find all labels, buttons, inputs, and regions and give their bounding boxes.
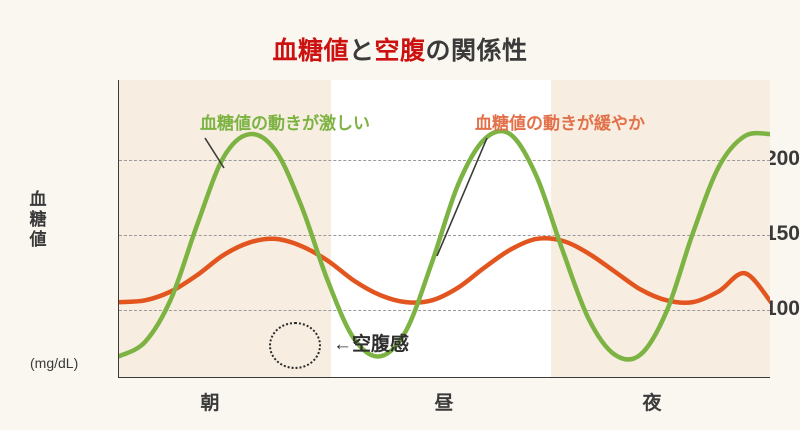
title-part-3: 空腹: [375, 37, 426, 65]
title-part-1: 血糖値: [272, 37, 349, 65]
chart-root: 血糖値と空腹の関係性 血 糖 値 (mg/dL) 200 150 100 血糖値…: [0, 0, 800, 430]
y-axis-title-char-1: 血: [26, 190, 50, 210]
title-part-2: と: [349, 37, 375, 65]
title-part-4: の関係性: [426, 37, 528, 65]
page-title: 血糖値と空腹の関係性: [0, 31, 800, 67]
x-tick-label-noon: 昼: [414, 388, 474, 415]
x-tick-label-morning: 朝: [180, 388, 240, 415]
y-axis-title-char-2: 糖: [26, 210, 50, 230]
annotation-hunger-label: ←空腹感: [333, 335, 409, 354]
hunger-marker-circle: [269, 322, 321, 369]
annotation-gentle-label: 血糖値の動きが緩やか: [475, 115, 645, 132]
series-line-sharp: [119, 131, 770, 359]
y-axis-title-char-3: 値: [26, 230, 50, 250]
y-axis-title: 血 糖 値: [26, 190, 50, 250]
annotation-sharp-label: 血糖値の動きが激しい: [200, 115, 370, 132]
y-axis-unit: (mg/dL): [30, 355, 78, 371]
x-tick-label-night: 夜: [622, 388, 682, 415]
